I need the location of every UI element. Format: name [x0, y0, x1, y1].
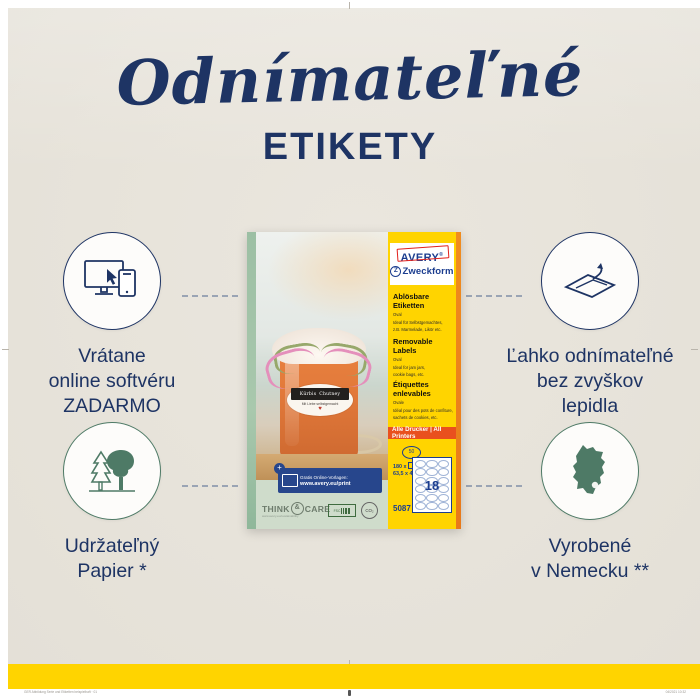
- sheet-layout-diagram: 18: [412, 457, 452, 513]
- zweckform-wordmark: ZZweckform: [390, 266, 453, 277]
- crop-tick-right: [691, 349, 698, 350]
- package-photo: Kürbis Chutney Mit Liebe selbstgemacht ♥: [256, 232, 388, 480]
- photo-bokeh: [256, 232, 388, 327]
- jar-oval-label: Kürbis Chutney Mit Liebe selbstgemacht ♥: [287, 384, 353, 416]
- package-info-column: AVERY® ZZweckform Ablösbare Etiketten Ov…: [388, 232, 456, 529]
- package-left-edge: [247, 232, 256, 529]
- feature-icon-bubble: [541, 422, 639, 520]
- feature-icon-bubble: [63, 422, 161, 520]
- fsc-bars: [341, 508, 350, 514]
- feature-made-in-germany: Vyrobené v Nemecku **: [490, 422, 690, 584]
- footer-note-right: 04/2021 10:32: [666, 690, 686, 694]
- peeling-label-icon: [560, 257, 620, 305]
- heart-icon: ♥: [318, 406, 322, 412]
- product-block-fr: Étiquettes enlevables Ovale Idéal pour d…: [393, 380, 453, 420]
- badge-text: Gratis Online-Vorlagen: www.avery.eu/pri…: [300, 475, 351, 487]
- avery-wordmark: AVERY®: [401, 252, 444, 264]
- fsc-label: FSC: [334, 509, 341, 513]
- feature-label: Vrátane online softvéru ZADARMO: [12, 344, 212, 419]
- avery-zweckform-logo: AVERY® ZZweckform: [390, 243, 454, 285]
- germany-map-icon: [567, 443, 613, 499]
- product-sku: 5087: [393, 504, 411, 513]
- jar-label-band: Kürbis Chutney: [291, 388, 349, 400]
- crop-tick-left: [2, 349, 9, 350]
- feature-online-software: Vrátane online softvéru ZADARMO: [12, 232, 212, 419]
- monitor-icon: [282, 474, 298, 487]
- plus-icon: +: [274, 463, 285, 474]
- package-right-edge: [456, 232, 461, 529]
- feature-label: Vyrobené v Nemecku **: [490, 534, 690, 584]
- feature-label: Ľahko odnímateľné bez zvyškov lepidla: [490, 344, 690, 419]
- trees-icon: [83, 446, 141, 496]
- footer-note-left: GER Abbildung Serie und Etiketten beispi…: [24, 690, 97, 694]
- feature-sustainable-paper: Udržateľný Papier *: [12, 422, 212, 584]
- crop-tick-top: [349, 2, 350, 9]
- co2-neutral-logo: CO₂: [361, 502, 378, 519]
- bottom-yellow-bar: [8, 664, 700, 689]
- jar-label-sub: Mit Liebe selbstgemacht: [302, 402, 339, 406]
- feature-label: Udržateľný Papier *: [12, 534, 212, 584]
- jar-label-left: Kürbis: [300, 392, 316, 397]
- product-block-de: Ablösbare Etiketten Oval Ideal für Selbs…: [393, 292, 443, 332]
- monitor-phone-cursor-icon: [83, 258, 141, 304]
- product-block-en: Removable Labels Oval Ideal for jam jars…: [393, 337, 456, 377]
- feature-icon-bubble: [541, 232, 639, 330]
- z-circle-icon: Z: [390, 266, 401, 277]
- product-package: Kürbis Chutney Mit Liebe selbstgemacht ♥…: [247, 232, 461, 529]
- package-footer-band: + Gratis Online-Vorlagen: www.avery.eu/p…: [256, 480, 388, 529]
- feature-removable-no-residue: Ľahko odnímateľné bez zvyškov lepidla: [490, 232, 690, 419]
- online-templates-badge: + Gratis Online-Vorlagen: www.avery.eu/p…: [278, 468, 382, 493]
- jar-label-right: Chutney: [319, 392, 340, 397]
- footer-center-mark: [348, 690, 351, 696]
- headline-bold: ETIKETY: [0, 126, 700, 169]
- marketing-banner: Odnímateľné ETIKETY Vrátane online softv…: [0, 0, 700, 700]
- headline-script: Odnímateľné: [0, 35, 700, 123]
- labels-per-sheet-count: 18: [413, 458, 451, 512]
- fsc-logo: FSC: [328, 504, 356, 517]
- feature-icon-bubble: [63, 232, 161, 330]
- printers-banner: Alle Drucker | All Printers: [388, 427, 456, 439]
- think-care-url: www.avery.eu/sustainability: [262, 514, 298, 518]
